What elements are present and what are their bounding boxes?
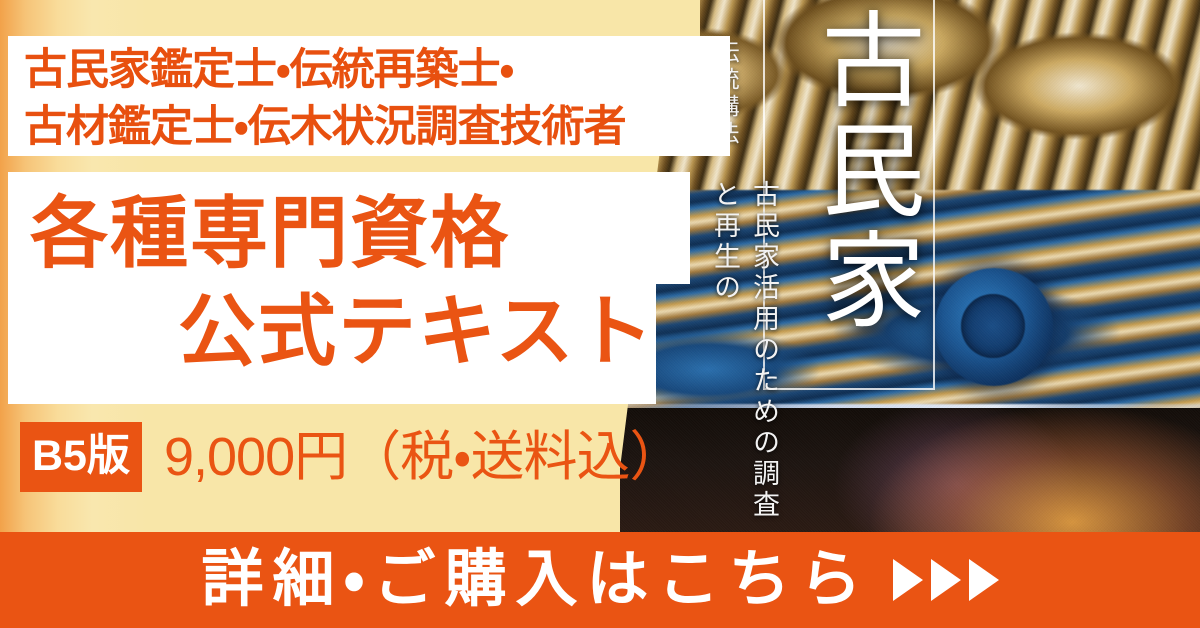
triangle-right-icon <box>969 559 999 601</box>
cta-bar[interactable]: 詳細・ご購入はこちら <box>0 532 1200 628</box>
headline-line-1: 各種専門資格 <box>30 194 510 272</box>
headline-card: 各種専門資格 公式テキスト <box>8 172 690 404</box>
blue-medallion-carving <box>935 268 1053 386</box>
price-amount: 9,000円（税・送料込） <box>164 430 683 484</box>
certifications-card: 古民家鑑定士・伝統再築士・ 古材鑑定士・伝木状況調査技術者 <box>8 36 730 156</box>
certifications-line-2: 古材鑑定士・伝木状況調査技術者 <box>24 99 730 156</box>
size-badge: B5版 <box>20 422 142 492</box>
certifications-line-1: 古民家鑑定士・伝統再築士・ <box>24 42 730 99</box>
promo-banner: 古民家 伝統構法 古民家活用のための調査と再生の 古民家鑑定士・伝統再築士・ 古… <box>0 0 1200 628</box>
book-cover-title: 古民家 <box>780 6 920 336</box>
triangle-right-icon <box>931 559 961 601</box>
book-cover-subtitle-b: 古民家活用のための調査と再生の <box>706 180 784 532</box>
triangle-right-icon <box>893 559 923 601</box>
cta-arrow-group <box>893 559 999 601</box>
cta-label: 詳細・ご購入はこちら <box>201 549 870 611</box>
price-row: B5版 9,000円（税・送料込） <box>20 422 682 492</box>
headline-line-2: 公式テキスト <box>178 292 656 370</box>
